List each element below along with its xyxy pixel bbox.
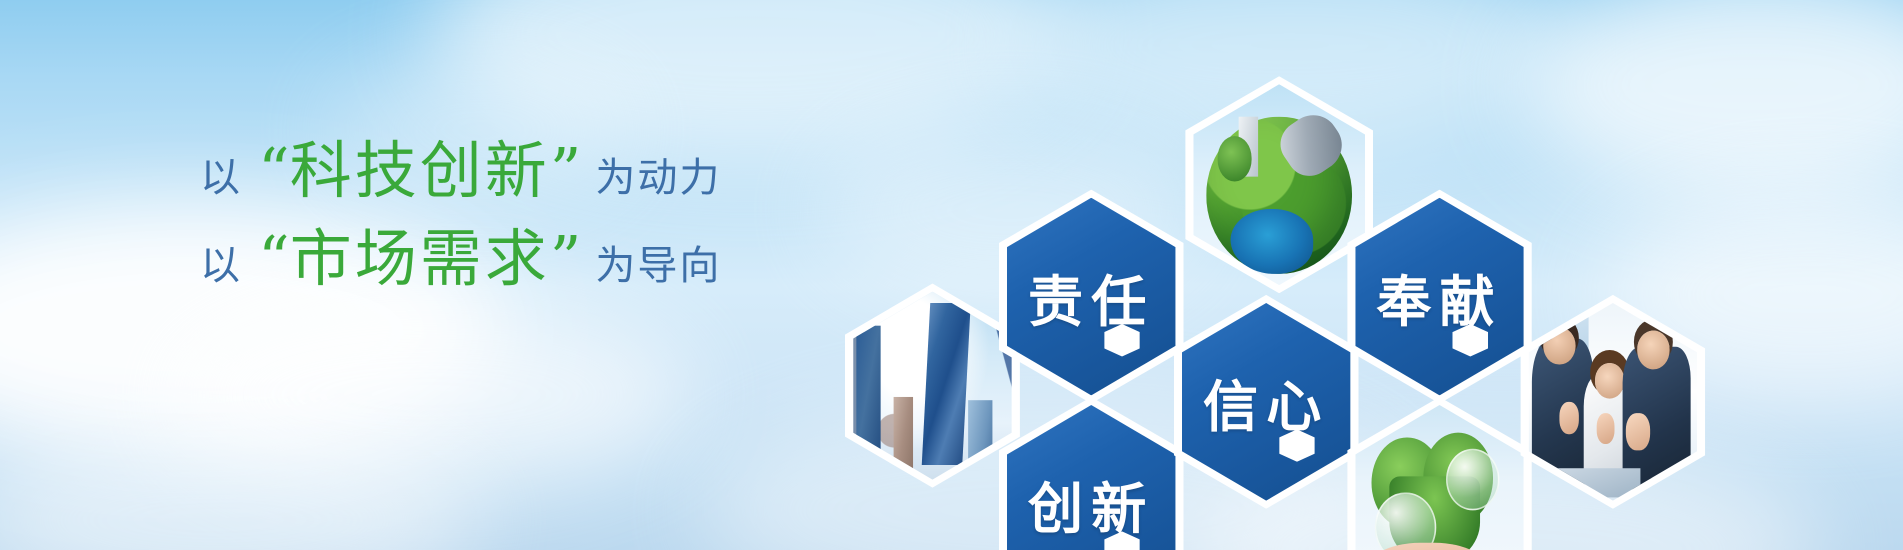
hex-photo-business-team-image	[1529, 303, 1697, 501]
hex-value-xinxin-label: 信心	[1182, 303, 1350, 501]
hex-photo-green-heart	[1347, 397, 1532, 550]
hex-value-zeren[interactable]: 责任	[999, 190, 1184, 404]
hex-photo-eco-globe-image	[1193, 84, 1365, 285]
hex-photo-skyscrapers	[845, 284, 1020, 488]
hex-photo-business-team	[1521, 295, 1706, 509]
hex-value-xinxin[interactable]: 信心	[1174, 295, 1359, 509]
hex-value-fengxian[interactable]: 奉献	[1347, 190, 1532, 404]
hex-photo-eco-globe	[1185, 76, 1373, 293]
hex-value-fengxian-label: 奉献	[1355, 198, 1523, 396]
hex-photo-skyscrapers-image	[853, 292, 1012, 480]
hex-value-chuangxin-label: 创新	[1007, 405, 1175, 550]
hex-value-chuangxin[interactable]: 创新	[999, 397, 1184, 550]
hero-banner: 以 “ 科技创新 ” 为动力 以 “ 市场需求 ” 为导向	[0, 0, 1903, 550]
hexagon-cluster: 责任 创新 信心 奉献	[0, 0, 1903, 550]
hex-value-zeren-label: 责任	[1007, 198, 1175, 396]
hex-photo-green-heart-image	[1355, 405, 1523, 550]
